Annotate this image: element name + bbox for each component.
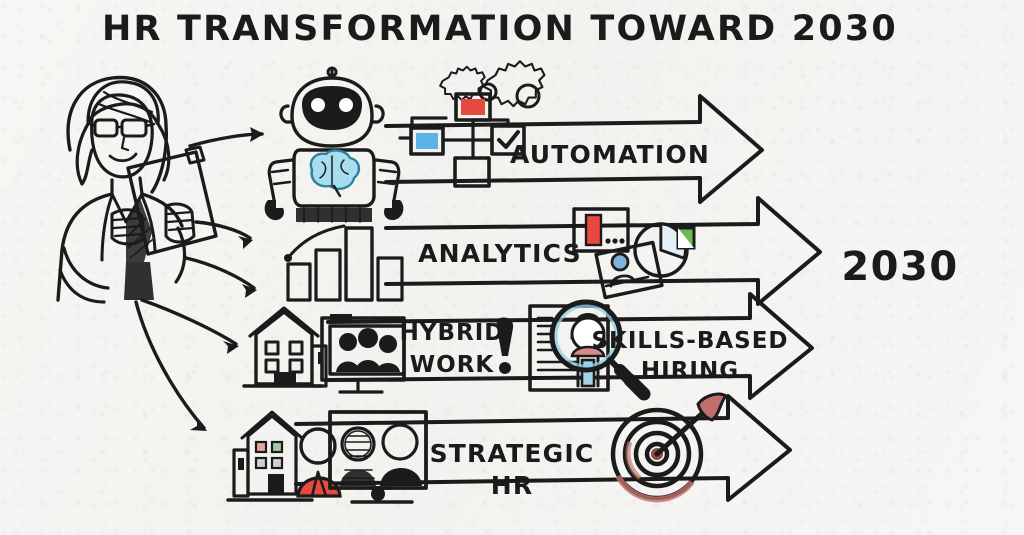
sketch-artwork: HR TRANSFORMATION TOWARD 2030 (0, 0, 1024, 535)
target-arrow-icon (613, 394, 726, 499)
row-hybrid-skills: HYBRID WORK SKILLS-BASED HIRING (244, 294, 812, 398)
row-strategic-hr: STRATEGIC HR (228, 394, 790, 502)
strategic-hr-label-line2: HR (491, 471, 534, 500)
analytics-label: ANALYTICS (418, 239, 582, 268)
video-call-monitor-icon (322, 314, 404, 392)
automation-label: AUTOMATION (510, 140, 710, 169)
bar-chart-icon (284, 226, 402, 300)
strategic-hr-label-line1: STRATEGIC (430, 439, 595, 468)
infographic-canvas: HR TRANSFORMATION TOWARD 2030 (0, 0, 1024, 535)
skills-based-hiring-label-line1: SKILLS-BASED (591, 328, 788, 354)
hr-professional-illustration (58, 78, 216, 302)
page-title: HR TRANSFORMATION TOWARD 2030 (102, 9, 898, 49)
report-card-icon (574, 209, 628, 251)
hybrid-work-label-line2: WORK (410, 352, 495, 378)
robot-icon (265, 68, 404, 222)
pie-chart-icon (635, 224, 694, 276)
skills-based-hiring-label-line2: HIRING (641, 358, 739, 384)
fanout-arrow-3 (186, 258, 257, 298)
row-automation: AUTOMATION (265, 61, 762, 222)
fanout-arrow-1 (190, 127, 264, 146)
fanout-arrow-4 (142, 300, 239, 354)
flowchart-icon (400, 94, 524, 186)
hybrid-work-label-line1: HYBRID (400, 320, 505, 346)
end-year-label: 2030 (841, 244, 958, 290)
house-icon (244, 308, 326, 386)
fanout-arrow-2 (196, 222, 253, 249)
